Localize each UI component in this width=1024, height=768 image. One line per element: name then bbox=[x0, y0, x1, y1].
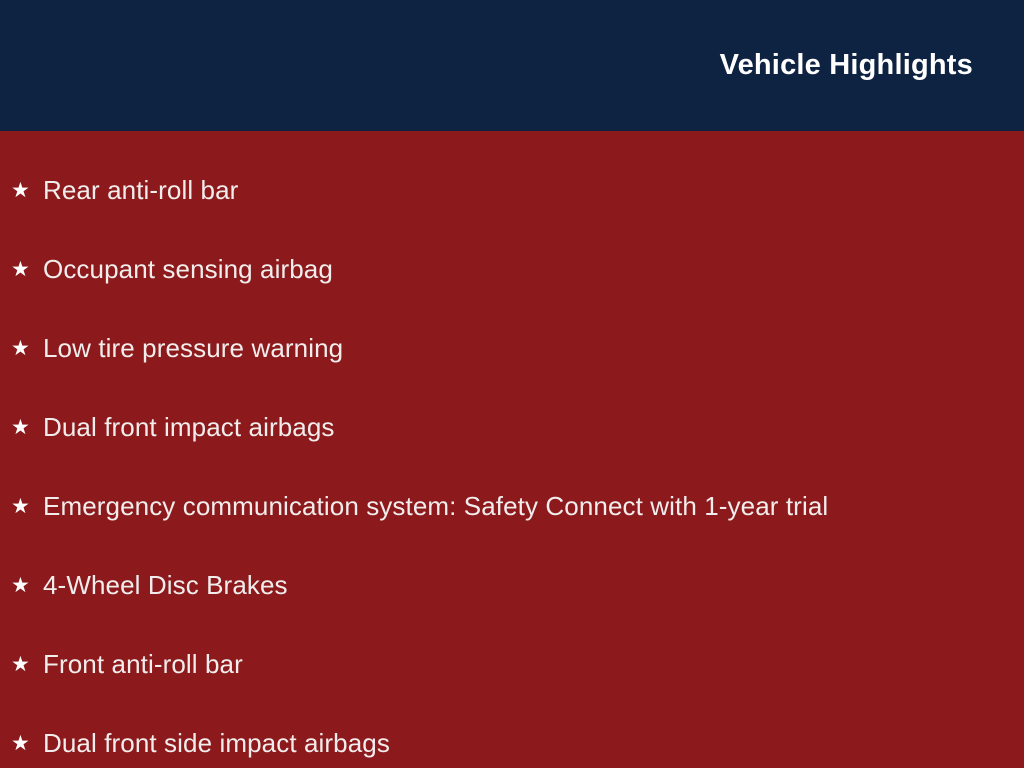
slide-body: ★ Rear anti-roll bar ★ Occupant sensing … bbox=[0, 131, 1024, 768]
star-icon: ★ bbox=[11, 180, 43, 201]
list-item: ★ Low tire pressure warning bbox=[0, 309, 1024, 388]
page-title: Vehicle Highlights bbox=[720, 51, 973, 80]
list-item: ★ Dual front impact airbags bbox=[0, 388, 1024, 467]
star-icon: ★ bbox=[11, 259, 43, 280]
star-icon: ★ bbox=[11, 496, 43, 517]
list-item: ★ Front anti-roll bar bbox=[0, 625, 1024, 704]
star-icon: ★ bbox=[11, 654, 43, 675]
list-item: ★ Emergency communication system: Safety… bbox=[0, 467, 1024, 546]
list-item-label: Occupant sensing airbag bbox=[43, 255, 333, 285]
list-item-label: Rear anti-roll bar bbox=[43, 176, 238, 206]
list-item: ★ 4-Wheel Disc Brakes bbox=[0, 546, 1024, 625]
list-item-label: 4-Wheel Disc Brakes bbox=[43, 571, 288, 601]
list-item-label: Dual front impact airbags bbox=[43, 413, 335, 443]
list-item-label: Low tire pressure warning bbox=[43, 334, 343, 364]
star-icon: ★ bbox=[11, 338, 43, 359]
list-item-label: Emergency communication system: Safety C… bbox=[43, 492, 828, 522]
star-icon: ★ bbox=[11, 417, 43, 438]
slide-vehicle-highlights: Vehicle Highlights ★ Rear anti-roll bar … bbox=[0, 0, 1024, 768]
list-item-label: Dual front side impact airbags bbox=[43, 729, 390, 759]
list-item: ★ Dual front side impact airbags bbox=[0, 704, 1024, 768]
list-item: ★ Occupant sensing airbag bbox=[0, 230, 1024, 309]
list-item: ★ Rear anti-roll bar bbox=[0, 151, 1024, 230]
star-icon: ★ bbox=[11, 733, 43, 754]
star-icon: ★ bbox=[11, 575, 43, 596]
vehicle-highlights-list: ★ Rear anti-roll bar ★ Occupant sensing … bbox=[0, 151, 1024, 768]
list-item-label: Front anti-roll bar bbox=[43, 650, 243, 680]
slide-header: Vehicle Highlights bbox=[0, 0, 1024, 131]
